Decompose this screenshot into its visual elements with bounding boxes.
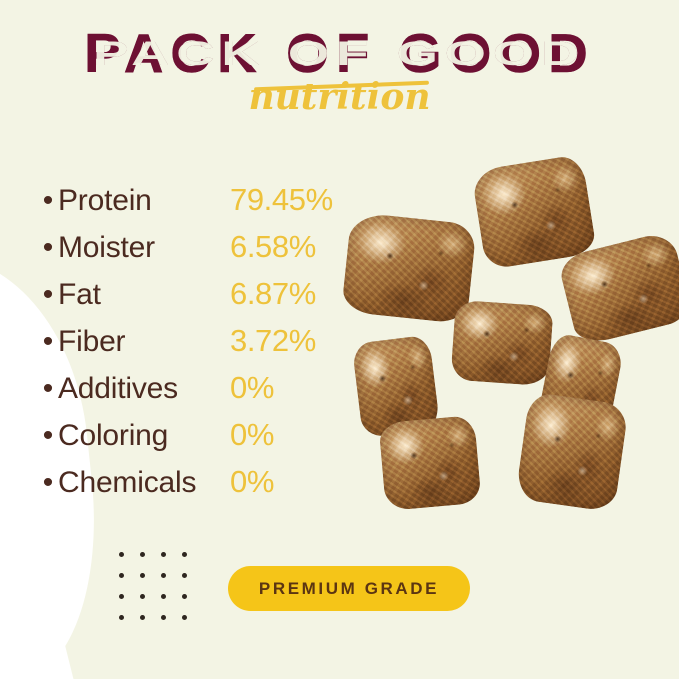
nutrition-infographic: PACK OF GOOD nutrition •Protein79.45%•Mo…: [0, 0, 679, 679]
bullet-icon: •: [38, 421, 58, 451]
grid-dot: [182, 552, 187, 557]
nutrient-label: Chemicals: [58, 466, 230, 500]
nutrient-label: Protein: [58, 184, 230, 218]
nutrient-value: 6.87%: [230, 277, 316, 311]
product-chunk: [471, 154, 597, 270]
nutrient-value: 0%: [230, 418, 274, 452]
dot-grid-decoration: [119, 552, 203, 636]
grid-dot: [140, 594, 145, 599]
nutrient-value: 6.58%: [230, 230, 316, 264]
grid-dot: [182, 615, 187, 620]
grid-dot: [161, 594, 166, 599]
grid-dot: [119, 573, 124, 578]
white-blob-foot-decoration: [0, 520, 76, 679]
nutrient-value: 0%: [230, 371, 274, 405]
product-chunk: [450, 300, 553, 387]
nutrition-list: •Protein79.45%•Moister6.58%•Fat6.87%•Fib…: [38, 183, 368, 512]
bullet-icon: •: [38, 327, 58, 357]
bullet-icon: •: [38, 374, 58, 404]
nutrient-value: 79.45%: [230, 183, 333, 217]
nutrient-label: Fiber: [58, 325, 230, 359]
grid-dot: [182, 594, 187, 599]
bullet-icon: •: [38, 186, 58, 216]
premium-grade-badge-label: PREMIUM GRADE: [259, 579, 439, 599]
nutrition-row: •Coloring0%: [38, 418, 368, 465]
nutrient-value: 3.72%: [230, 324, 316, 358]
page-title: PACK OF GOOD: [0, 22, 679, 84]
bullet-icon: •: [38, 280, 58, 310]
page-subtitle: nutrition: [0, 76, 679, 118]
nutrient-label: Fat: [58, 278, 230, 312]
nutrient-label: Coloring: [58, 419, 230, 453]
grid-dot: [182, 573, 187, 578]
product-chunk: [515, 392, 629, 513]
nutrient-label: Additives: [58, 372, 230, 406]
premium-grade-badge: PREMIUM GRADE: [228, 566, 470, 611]
nutrition-row: •Fat6.87%: [38, 277, 368, 324]
nutrition-row: •Chemicals0%: [38, 465, 368, 512]
header: PACK OF GOOD nutrition: [0, 0, 679, 138]
bullet-icon: •: [38, 468, 58, 498]
product-chunk: [378, 415, 481, 511]
page-title-text: PACK OF GOOD: [84, 22, 595, 84]
grid-dot: [119, 615, 124, 620]
grid-dot: [161, 552, 166, 557]
nutrition-row: •Moister6.58%: [38, 230, 368, 277]
grid-dot: [161, 573, 166, 578]
grid-dot: [161, 615, 166, 620]
grid-dot: [140, 552, 145, 557]
grid-dot: [119, 594, 124, 599]
grid-dot: [140, 573, 145, 578]
nutrition-row: •Additives0%: [38, 371, 368, 418]
nutrient-value: 0%: [230, 465, 274, 499]
nutrition-row: •Fiber3.72%: [38, 324, 368, 371]
bullet-icon: •: [38, 233, 58, 263]
grid-dot: [140, 615, 145, 620]
nutrient-label: Moister: [58, 231, 230, 265]
grid-dot: [119, 552, 124, 557]
nutrition-row: •Protein79.45%: [38, 183, 368, 230]
